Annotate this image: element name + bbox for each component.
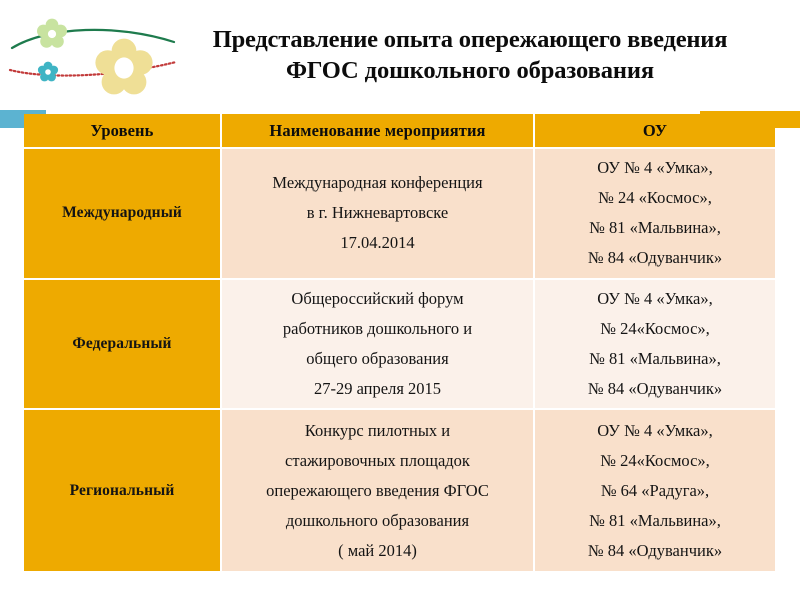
event-line: дошкольного образования [222,506,533,536]
page-title-line-1: Представление опыта опережающего введени… [160,24,780,55]
org-line: № 84 «Одуванчик» [535,243,775,273]
flower-icon-yellow [95,39,152,95]
cell-event: Общероссийский форум работников дошкольн… [222,280,533,409]
org-line: № 84 «Одуванчик» [535,374,775,404]
page-title-line-2: ФГОС дошкольного образования [160,55,780,86]
cell-level: Федеральный [24,280,220,409]
column-header-event: Наименование мероприятия [222,114,533,147]
org-line: № 81 «Мальвина», [535,344,775,374]
cell-event: Международная конференция в г. Нижневарт… [222,149,533,278]
event-line: работников дошкольного и [222,314,533,344]
org-line: № 81 «Мальвина», [535,213,775,243]
events-table: Уровень Наименование мероприятия ОУ Межд… [22,112,777,573]
event-line: стажировочных площадок [222,446,533,476]
flower-icon-green [37,19,67,48]
cell-event: Конкурс пилотных и стажировочных площадо… [222,410,533,571]
org-line: ОУ № 4 «Умка», [535,284,775,314]
org-line: № 84 «Одуванчик» [535,536,775,566]
org-line: ОУ № 4 «Умка», [535,416,775,446]
org-line: ОУ № 4 «Умка», [535,153,775,183]
title-band: Представление опыта опережающего введени… [0,0,800,108]
org-line: № 81 «Мальвина», [535,506,775,536]
event-line: общего образования [222,344,533,374]
org-line: № 24«Космос», [535,314,775,344]
flower-icon-teal [38,62,58,82]
cell-org: ОУ № 4 «Умка», № 24«Космос», № 64 «Радуг… [535,410,775,571]
org-line: № 24 «Космос», [535,183,775,213]
table-row: Региональный Конкурс пилотных и стажиров… [24,410,775,571]
event-line: 17.04.2014 [222,228,533,258]
event-line: 27-29 апреля 2015 [222,374,533,404]
org-line: № 64 «Радуга», [535,476,775,506]
event-line: опережающего введения ФГОС [222,476,533,506]
event-line: Общероссийский форум [222,284,533,314]
page-title: Представление опыта опережающего введени… [160,24,780,86]
event-line: в г. Нижневартовске [222,198,533,228]
event-line: Международная конференция [222,168,533,198]
table-row: Международный Международная конференция … [24,149,775,278]
event-line: Конкурс пилотных и [222,416,533,446]
table-body: Международный Международная конференция … [24,149,775,571]
column-header-org: ОУ [535,114,775,147]
event-line: ( май 2014) [222,536,533,566]
cell-org: ОУ № 4 «Умка», № 24 «Космос», № 81 «Маль… [535,149,775,278]
cell-level: Региональный [24,410,220,571]
cell-level: Международный [24,149,220,278]
decorative-flowers-graphic [8,10,178,102]
org-line: № 24«Космос», [535,446,775,476]
cell-org: ОУ № 4 «Умка», № 24«Космос», № 81 «Мальв… [535,280,775,409]
column-header-level: Уровень [24,114,220,147]
table-header-row: Уровень Наименование мероприятия ОУ [24,114,775,147]
events-table-wrapper: Уровень Наименование мероприятия ОУ Межд… [22,112,775,573]
table-row: Федеральный Общероссийский форум работни… [24,280,775,409]
